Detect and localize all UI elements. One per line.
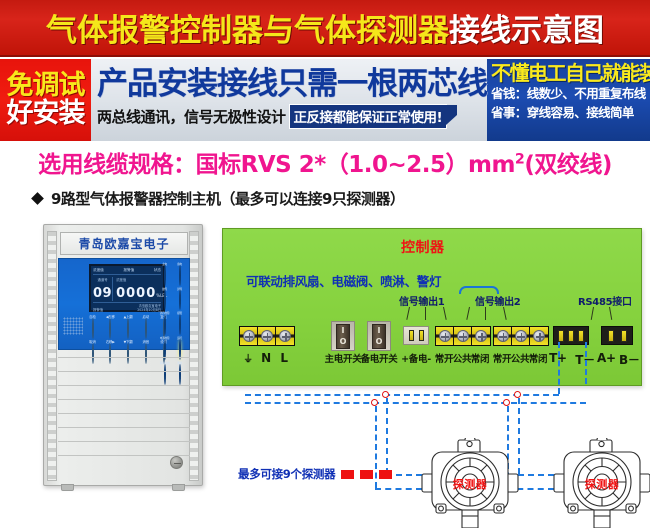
lead-line bbox=[503, 307, 507, 320]
feature-badge-line2: 好安装 bbox=[7, 100, 85, 128]
diamond-bullet-icon bbox=[31, 192, 44, 205]
feature-subtext: 两总线通讯，信号无极性设计 bbox=[97, 106, 286, 127]
detector-capacity-note: 最多可接9个探测器 bbox=[238, 466, 392, 482]
lcd-concentration-value: 0000 bbox=[116, 286, 156, 301]
bus-wire-t-plus-drop bbox=[558, 342, 560, 394]
terminal-ground[interactable] bbox=[240, 327, 258, 345]
detector-1: 探测器 bbox=[418, 438, 522, 526]
feature-arrow-tag: 正反接都能保证正常使用! bbox=[289, 104, 448, 129]
detector-count-square bbox=[341, 470, 354, 479]
led-row-1: 主电 备电 bbox=[159, 263, 185, 285]
section-subtitle-text: 9路型气体报警器控制主机（最多可以连接9只探测器） bbox=[51, 188, 404, 209]
cable-spec-line: 选用线缆规格：国标RVS 2*（1.0~2.5）mm2(双绞线) bbox=[0, 145, 650, 179]
lcd-header-mid: 报警值 bbox=[123, 268, 134, 273]
led-main-power-lamp bbox=[164, 265, 166, 286]
key-selftest[interactable]: 自检 bbox=[85, 315, 100, 338]
benefits-row-1: 省钱：线数少、不用重复布线 bbox=[491, 84, 648, 103]
connector-pin bbox=[409, 330, 414, 341]
connector-pin bbox=[578, 330, 584, 342]
wire-junction-node bbox=[514, 391, 521, 398]
switch-mark-off: O bbox=[340, 338, 347, 346]
controller-front-face: 浓度值 报警值 状态 通道号 09 浓度值 0000%LEL 报警值 青岛欧嘉宝… bbox=[58, 258, 190, 350]
controller-brand-bar: 青岛欧嘉宝电子 bbox=[60, 232, 188, 255]
lead-line bbox=[425, 307, 426, 320]
key-up[interactable]: ▲上翻 bbox=[121, 315, 136, 338]
feature-benefits-panel: 不懂电工自己就能装！ 省钱：线数少、不用重复布线 省事：穿线容易、接线简单 bbox=[487, 59, 650, 141]
key-selftest-button[interactable] bbox=[92, 318, 94, 339]
screw-icon bbox=[279, 330, 291, 342]
lcd-header-left: 浓度值 bbox=[93, 268, 104, 273]
terminal-out1-no[interactable] bbox=[436, 327, 454, 345]
board-title: 控制器 bbox=[401, 237, 445, 257]
bus-connector-rs485[interactable] bbox=[601, 326, 633, 345]
led-comm-fault-lamp bbox=[164, 314, 166, 335]
key-start-button[interactable] bbox=[145, 318, 147, 339]
led-fault-lamp bbox=[164, 289, 166, 310]
lcd-display: 浓度值 报警值 状态 通道号 09 浓度值 0000%LEL 报警值 青岛欧嘉宝… bbox=[89, 264, 165, 312]
screw-icon bbox=[475, 330, 487, 342]
lead-line bbox=[466, 307, 470, 320]
benefits-row-2: 省事：穿线容易、接线简单 bbox=[491, 103, 648, 122]
feature-badge: 免调试 好安装 bbox=[0, 59, 91, 141]
speaker-grille-icon bbox=[63, 317, 83, 335]
screw-icon bbox=[457, 330, 469, 342]
feature-banner: 免调试 好安装 产品安装接线只需一根两芯线 两总线通讯，信号无极性设计 正反接都… bbox=[0, 59, 650, 141]
switch-mark-off: O bbox=[376, 338, 383, 346]
feature-badge-line1: 免调试 bbox=[7, 72, 85, 100]
terminal-out1-com[interactable] bbox=[454, 327, 472, 345]
screw-icon bbox=[533, 330, 545, 342]
lead-line bbox=[443, 307, 447, 320]
backup-power-switch[interactable]: I O bbox=[367, 321, 391, 351]
terminal-block-signal-output-1[interactable] bbox=[435, 326, 491, 346]
controller-lower-panel-lines bbox=[58, 357, 190, 467]
led-power-fault: 电源故障 bbox=[159, 337, 170, 359]
led-backup-power: 备电 bbox=[174, 263, 185, 285]
detector-1-wire-a bbox=[386, 398, 388, 474]
lcd-channel-label: 通道号 bbox=[93, 277, 112, 282]
controller-foot-left bbox=[61, 484, 74, 491]
led-fault: 故障 bbox=[159, 288, 170, 310]
led-backup-power-lamp bbox=[179, 265, 181, 286]
screw-icon bbox=[261, 330, 273, 342]
screw-icon bbox=[439, 330, 451, 342]
backup-power-connector[interactable] bbox=[403, 326, 429, 345]
wire-junction-node bbox=[503, 399, 510, 406]
lead-line bbox=[591, 307, 594, 320]
controller-lock-screw-icon bbox=[170, 456, 183, 469]
controller-foot-right bbox=[172, 484, 185, 491]
controller-vent-left bbox=[47, 231, 57, 481]
main-power-switch-rocker[interactable]: I O bbox=[336, 324, 350, 349]
cable-spec-suffix: (双绞线) bbox=[524, 152, 612, 178]
lcd-footer-date: 2024年10月8日 bbox=[137, 308, 161, 312]
terminal-l-label: L bbox=[275, 351, 293, 365]
screw-icon bbox=[243, 330, 255, 342]
terminal-l[interactable] bbox=[276, 327, 294, 345]
terminal-block-signal-output-2[interactable] bbox=[493, 326, 549, 346]
detector-1-wire-b-in bbox=[375, 488, 422, 490]
led-alarm-lamp bbox=[179, 314, 181, 335]
connector-pin bbox=[419, 330, 424, 341]
backup-power-connector-label: +备电- bbox=[399, 351, 433, 365]
bus-wire-t-minus-drop bbox=[585, 342, 587, 384]
bus-wire-line-2 bbox=[245, 402, 586, 404]
title-banner: 气体报警控制器与气体探测器接线示意图 bbox=[0, 0, 650, 57]
key-up-button[interactable] bbox=[127, 318, 129, 339]
connector-pin bbox=[608, 330, 614, 342]
detector-2-wire-a-in bbox=[518, 474, 554, 476]
terminal-ground-label: ⏚ bbox=[239, 351, 257, 365]
terminal-out1-nc[interactable] bbox=[472, 327, 490, 345]
bus-wire-line-1 bbox=[245, 394, 559, 396]
terminal-out2-nc[interactable] bbox=[530, 327, 548, 345]
key-start[interactable]: 启动 bbox=[138, 315, 153, 338]
page-title: 气体报警控制器与气体探测器接线示意图 bbox=[46, 5, 604, 50]
terminal-out2-no[interactable] bbox=[494, 327, 512, 345]
detector-2: 探测器 bbox=[550, 438, 650, 526]
controller-vent-right bbox=[189, 231, 199, 481]
cable-spec-prefix: 选用线缆规格：国标RVS 2*（1.0~2.5）mm bbox=[38, 152, 515, 178]
feature-headline-block: 产品安装接线只需一根两芯线 两总线通讯，信号无极性设计 正反接都能保证正常使用! bbox=[91, 59, 487, 141]
connector-pin bbox=[568, 330, 574, 342]
lead-line bbox=[609, 307, 612, 320]
led-row-2: 故障 屏蔽 bbox=[159, 288, 185, 310]
detector-1-label: 探测器 bbox=[418, 476, 522, 492]
main-power-switch[interactable]: I O bbox=[331, 321, 355, 351]
led-main-power: 主电 bbox=[159, 263, 170, 285]
terminal-n-label: N bbox=[257, 351, 275, 365]
detector-count-square bbox=[360, 470, 373, 479]
page-title-part-a: 气体报警控制器与气体探测器 bbox=[46, 13, 449, 49]
terminal-out2-nc-label: 常闭 bbox=[526, 351, 550, 365]
board-subtitle: 可联动排风扇、电磁阀、喷淋、警灯 bbox=[246, 271, 441, 290]
terminal-out1-nc-label: 常闭 bbox=[468, 351, 492, 365]
wire-junction-node bbox=[382, 391, 389, 398]
section-subtitle: 9路型气体报警器控制主机（最多可以连接9只探测器） bbox=[33, 188, 404, 209]
detector-capacity-note-text: 最多可接9个探测器 bbox=[238, 466, 335, 482]
lead-line bbox=[485, 307, 486, 320]
cable-spec-superscript: 2 bbox=[515, 151, 524, 167]
terminal-a-plus-label: A+ bbox=[597, 351, 615, 365]
connector-pin bbox=[558, 330, 564, 342]
lcd-main-row: 通道号 09 浓度值 0000%LEL bbox=[93, 277, 161, 301]
terminal-block-power[interactable] bbox=[239, 326, 295, 346]
benefits-headline: 不懂电工自己就能装！ bbox=[491, 62, 648, 84]
screw-icon bbox=[497, 330, 509, 342]
backup-power-switch-rocker[interactable]: I O bbox=[372, 324, 386, 349]
lcd-alarm-label: 报警值 bbox=[93, 307, 103, 312]
controller-terminal-board: 控制器 可联动排风扇、电磁阀、喷淋、警灯 信号输出1 信号输出2 RS485接口… bbox=[222, 228, 642, 386]
feature-subline: 两总线通讯，信号无极性设计 正反接都能保证正常使用! bbox=[97, 104, 487, 129]
lcd-header-row: 浓度值 报警值 状态 bbox=[93, 268, 161, 275]
page-title-part-b: 接线示意图 bbox=[449, 13, 604, 49]
lead-line bbox=[406, 307, 410, 320]
lcd-footer-right: 青岛欧嘉宝电子 2024年10月8日 bbox=[137, 304, 161, 312]
led-row-4: 电源故障 运行 bbox=[159, 337, 185, 359]
backup-power-switch-label: 备电开关 bbox=[359, 351, 399, 365]
detector-count-square bbox=[379, 470, 392, 479]
terminal-n[interactable] bbox=[258, 327, 276, 345]
led-alarm: 报警 bbox=[174, 312, 185, 334]
signal-output-1-group-label: 信号输出1 bbox=[399, 293, 444, 308]
detector-2-label: 探测器 bbox=[550, 476, 650, 492]
switch-mark-on: I bbox=[342, 327, 345, 335]
lcd-channel-value: 09 bbox=[93, 286, 112, 301]
terminal-out2-com[interactable] bbox=[512, 327, 530, 345]
switch-mark-on: I bbox=[378, 327, 381, 335]
connector-pin bbox=[621, 330, 627, 342]
rs485-group-label: RS485接口 bbox=[578, 293, 632, 308]
led-row-3: 通讯故障 报警 bbox=[159, 312, 185, 334]
screw-icon bbox=[515, 330, 527, 342]
lcd-footer-row: 报警值 青岛欧嘉宝电子 2024年10月8日 bbox=[93, 302, 161, 312]
key-left-button[interactable] bbox=[109, 318, 111, 339]
lcd-channel-block: 通道号 09 bbox=[93, 277, 113, 301]
controller-unit: 青岛欧嘉宝电子 浓度值 报警值 状态 通道号 09 浓度值 0000%LEL bbox=[43, 224, 203, 486]
led-shield: 屏蔽 bbox=[174, 288, 185, 310]
main-power-switch-label: 主电开关 bbox=[323, 351, 363, 365]
controller-brand-text: 青岛欧嘉宝电子 bbox=[78, 235, 169, 252]
feature-headline: 产品安装接线只需一根两芯线 bbox=[97, 69, 487, 100]
led-run: 运行 bbox=[174, 337, 185, 359]
led-comm-fault: 通讯故障 bbox=[159, 312, 170, 334]
signal-output-2-group-label: 信号输出2 bbox=[475, 293, 520, 308]
terminal-b-minus-label: B－ bbox=[619, 351, 639, 368]
wire-junction-node bbox=[371, 399, 378, 406]
key-left[interactable]: ◀左移 bbox=[103, 315, 118, 338]
led-shield-lamp bbox=[179, 289, 181, 310]
